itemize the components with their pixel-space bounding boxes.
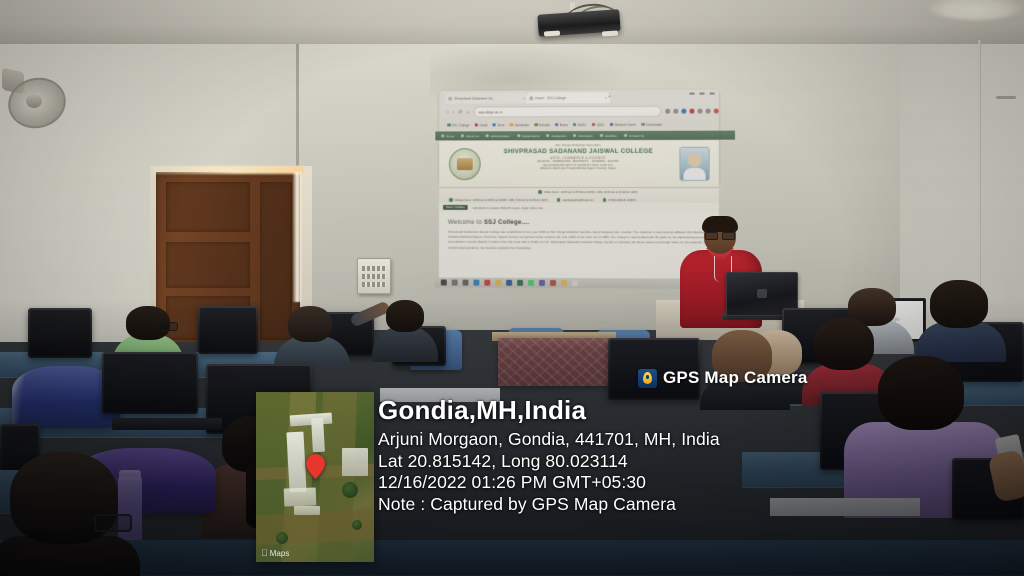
gps-note: Note : Captured by GPS Map Camera bbox=[378, 495, 878, 515]
monitor-screen bbox=[30, 310, 90, 356]
phone-label: 07196-220118, 220070 bbox=[608, 199, 636, 202]
tab-title: Shivprasad Sadanand Jai... bbox=[454, 96, 495, 100]
map-pin-icon bbox=[638, 369, 657, 388]
projector-foot bbox=[602, 30, 618, 36]
browser-toolbar: ‹ › ⟳ ⌂ ssjcollege.ac.in bbox=[443, 105, 723, 119]
bookmark-label: Exam bbox=[560, 123, 568, 127]
browser-tabstrip: Shivprasad Sadanand Jai... × Home - SSJ … bbox=[439, 89, 718, 103]
nav-label: Admission bbox=[579, 134, 593, 138]
app-name-label: GPS Map Camera bbox=[663, 368, 808, 388]
attendee bbox=[0, 452, 140, 576]
clock-icon bbox=[539, 190, 543, 194]
map-building bbox=[284, 487, 317, 506]
location-pin-icon bbox=[306, 454, 325, 479]
new-tab-button[interactable]: + bbox=[608, 94, 611, 100]
college-name: SHIVPRASAD SADANAND JAISWAL COLLEGE bbox=[483, 148, 675, 156]
address-bar-value: ssjcollege.ac.in bbox=[478, 110, 502, 114]
panel-row bbox=[362, 274, 386, 279]
attendee bbox=[916, 280, 1002, 356]
welcome-heading: Welcome to SSJ College.... bbox=[448, 219, 710, 226]
attendee-glasses bbox=[94, 514, 132, 532]
attendee-glasses bbox=[158, 322, 178, 331]
gps-info-block: Gondia,MH,India Arjuni Morgaon, Gondia, … bbox=[378, 396, 878, 516]
office-hours: Office hours : 10:00 am to 05:30 pm (MON… bbox=[539, 190, 638, 194]
news-text: Admission for session 2022-23 is open. A… bbox=[473, 205, 544, 209]
bookmark-item[interactable]: Admission bbox=[510, 123, 530, 127]
bookmark-item[interactable]: SSJ College bbox=[447, 123, 469, 127]
map-attribution-label: Maps bbox=[270, 549, 290, 558]
bookmark-label: Admission bbox=[515, 123, 530, 127]
attendee bbox=[372, 300, 436, 360]
nav-label: Home bbox=[446, 134, 454, 138]
news-tag: News / Updates bbox=[443, 205, 468, 210]
college-affiliation: Affiliated to Rashtrasant Tukadoji Mahar… bbox=[483, 167, 675, 170]
bookmark-label: Student Corner bbox=[615, 122, 637, 126]
task-view-icon[interactable] bbox=[463, 280, 468, 286]
bookmark-item[interactable]: IQAC bbox=[592, 122, 605, 126]
nav-item-academics[interactable]: Academics bbox=[546, 134, 566, 138]
gps-coordinates: Lat 20.815142, Long 80.023114 bbox=[378, 452, 878, 472]
menu-icon[interactable] bbox=[714, 109, 719, 114]
cast-icon[interactable] bbox=[706, 109, 711, 114]
star-icon[interactable] bbox=[665, 109, 670, 114]
door-light-leak bbox=[152, 166, 304, 174]
gps-location-title: Gondia,MH,India bbox=[378, 396, 878, 425]
chrome-icon[interactable] bbox=[484, 280, 489, 286]
bookmark-label: Downloads bbox=[646, 122, 662, 126]
pin-glyph bbox=[643, 372, 652, 384]
search-icon[interactable] bbox=[452, 280, 457, 286]
gps-address: Arjuni Morgaon, Gondia, 441701, MH, Indi… bbox=[378, 430, 878, 450]
ceiling bbox=[0, 0, 1024, 44]
monitor-screen bbox=[200, 308, 256, 352]
profile-icon[interactable] bbox=[681, 109, 686, 114]
bookmark-item[interactable]: Downloads bbox=[641, 122, 662, 126]
attendee-head bbox=[386, 300, 424, 332]
map-building bbox=[311, 418, 325, 453]
close-icon[interactable]: × bbox=[523, 95, 525, 100]
tab-favicon bbox=[448, 96, 452, 100]
extension-icons[interactable] bbox=[665, 109, 718, 114]
door-panel bbox=[166, 242, 250, 288]
nav-label: Contact Us bbox=[629, 133, 644, 137]
email-label: ssjcollege@rediffmail.com bbox=[562, 198, 593, 201]
bookmark-label: IQAC bbox=[597, 122, 605, 126]
nav-label: About Us bbox=[466, 134, 479, 138]
nav-item-home[interactable]: Home bbox=[441, 134, 454, 138]
header-text-block: Shri Durga Shikshan Sanstha's SHIVPRASAD… bbox=[483, 144, 675, 171]
map-attribution:  Maps bbox=[261, 549, 289, 558]
bookmark-label: Drive bbox=[497, 123, 504, 127]
electrical-panel-icon bbox=[357, 258, 391, 294]
phone-icon bbox=[603, 198, 607, 202]
whatsapp-icon[interactable] bbox=[528, 280, 533, 286]
attendee-head bbox=[878, 356, 964, 430]
attendee-head bbox=[930, 280, 988, 328]
bookmark-item[interactable]: Exam bbox=[555, 123, 568, 127]
notepad-icon[interactable] bbox=[572, 280, 578, 286]
nav-label: Facilities bbox=[605, 133, 617, 137]
presenter-glasses bbox=[705, 231, 735, 238]
bookmark-label: Results bbox=[539, 123, 550, 127]
site-header: Shri Durga Shikshan Sanstha's SHIVPRASAD… bbox=[439, 141, 719, 187]
nav-label: Departments bbox=[522, 134, 540, 138]
bookmark-label: NAAC bbox=[578, 123, 587, 127]
map-building bbox=[342, 448, 368, 476]
bookmark-item[interactable]: Gmail bbox=[474, 123, 487, 127]
college-crest-icon bbox=[449, 148, 481, 180]
map-building bbox=[286, 432, 306, 493]
bookmark-item[interactable]: NAAC bbox=[573, 123, 587, 127]
browser-tab[interactable]: Shivprasad Sadanand Jai... × bbox=[445, 92, 528, 103]
map-tree bbox=[342, 482, 358, 498]
site-navigation: Home About Us Administration Departments… bbox=[435, 131, 735, 141]
reload-icon[interactable]: ⟳ bbox=[458, 109, 462, 115]
panel-row bbox=[362, 266, 386, 271]
translate-icon[interactable] bbox=[697, 109, 702, 114]
lab-monitor bbox=[102, 352, 198, 414]
door-edge-light bbox=[293, 172, 302, 302]
explorer-icon[interactable] bbox=[495, 280, 500, 286]
email-contact[interactable]: ssjcollege@rediffmail.com bbox=[557, 198, 594, 202]
minimize-icon[interactable] bbox=[689, 93, 694, 95]
folder-icon[interactable] bbox=[561, 280, 566, 286]
map-thumbnail:  Maps bbox=[256, 392, 374, 562]
tab-title: Home - SSJ College bbox=[535, 96, 566, 100]
monitor-screen bbox=[104, 354, 196, 412]
founder-portrait-icon bbox=[679, 147, 709, 181]
lab-monitor bbox=[28, 308, 92, 358]
attendee-head bbox=[288, 306, 332, 342]
college-website: Shri Durga Shikshan Sanstha's SHIVPRASAD… bbox=[439, 141, 719, 289]
phone-contact[interactable]: 07196-220118, 220070 bbox=[603, 198, 636, 202]
excel-icon[interactable] bbox=[517, 280, 522, 286]
welcome-body: Shivprasad Sadanand Jaiswal College was … bbox=[448, 230, 710, 252]
forward-icon[interactable]: › bbox=[453, 109, 455, 115]
browser-tab[interactable]: Home - SSJ College × bbox=[526, 92, 610, 103]
laptop-logo bbox=[757, 289, 767, 298]
nav-item-facilities[interactable]: Facilities bbox=[600, 133, 617, 137]
wall-conduit bbox=[978, 40, 981, 290]
wall-fan-icon bbox=[2, 66, 66, 128]
extensions-icon[interactable] bbox=[673, 109, 678, 114]
start-icon[interactable] bbox=[441, 280, 446, 286]
door-panel bbox=[166, 182, 250, 232]
bookmark-item[interactable]: Student Corner bbox=[610, 122, 637, 126]
bookmarks-bar: SSJ College Gmail Drive Admission Result… bbox=[443, 120, 723, 130]
bookmark-label: Gmail bbox=[479, 123, 487, 127]
map-tree bbox=[352, 520, 362, 530]
gps-watermark: GPS Map Camera bbox=[638, 368, 808, 388]
maximize-icon[interactable] bbox=[699, 93, 704, 95]
close-icon[interactable] bbox=[710, 92, 715, 94]
presenter-hair bbox=[702, 216, 738, 232]
map-tree bbox=[276, 532, 288, 544]
close-icon[interactable]: × bbox=[605, 95, 607, 100]
bookmark-item[interactable]: Results bbox=[534, 123, 550, 127]
back-icon[interactable]: ‹ bbox=[447, 109, 449, 115]
gps-timestamp: 12/16/2022 01:26 PM GMT+05:30 bbox=[378, 473, 878, 493]
home-icon[interactable]: ⌂ bbox=[466, 109, 469, 115]
clock-icon bbox=[449, 198, 453, 202]
apple-logo-icon:  bbox=[261, 549, 268, 558]
map-building bbox=[294, 506, 320, 515]
news-ticker: News / Updates Admission for session 202… bbox=[439, 203, 719, 212]
front-table-cloth bbox=[498, 338, 610, 386]
panel-row bbox=[362, 282, 386, 287]
lab-monitor bbox=[198, 306, 258, 354]
teams-icon[interactable] bbox=[539, 280, 544, 286]
college-hours: College hours : 09:30 am to 05:30 pm (MO… bbox=[449, 198, 548, 202]
bookmark-label: SSJ College bbox=[452, 123, 469, 127]
lab-desk-row bbox=[0, 540, 1024, 576]
nav-item-admission[interactable]: Admission bbox=[574, 134, 593, 138]
edge-icon[interactable] bbox=[473, 280, 478, 286]
nav-item-about[interactable]: About Us bbox=[461, 134, 479, 138]
attendee bbox=[276, 306, 346, 362]
window-controls[interactable] bbox=[689, 92, 714, 94]
office-hours-label: Office hours : 10:00 am to 05:30 pm (MON… bbox=[544, 190, 638, 193]
ceiling-projector-icon bbox=[528, 2, 628, 40]
fan-hub bbox=[26, 94, 42, 108]
address-bar[interactable]: ssjcollege.ac.in bbox=[473, 106, 661, 118]
mail-icon bbox=[557, 198, 561, 202]
nav-label: Administration bbox=[491, 134, 510, 138]
office-hours-row: Office hours : 10:00 am to 05:30 pm (MON… bbox=[439, 188, 719, 196]
bookmark-item[interactable]: Drive bbox=[492, 123, 504, 127]
welcome-heading-strong: SSJ College.... bbox=[484, 219, 529, 226]
welcome-heading-prefix: Welcome to bbox=[448, 219, 484, 226]
tab-favicon bbox=[529, 96, 533, 100]
media-icon[interactable] bbox=[550, 280, 555, 286]
gps-map-camera-photo: Shivprasad Sadanand Jai... × Home - SSJ … bbox=[0, 0, 1024, 576]
adblock-icon[interactable] bbox=[689, 109, 694, 114]
nav-item-contact[interactable]: Contact Us bbox=[624, 133, 644, 137]
nav-item-administration[interactable]: Administration bbox=[486, 134, 510, 138]
college-hours-label: College hours : 09:30 am to 05:30 pm (MO… bbox=[454, 198, 547, 201]
nav-label: Academics bbox=[551, 134, 566, 138]
nav-item-departments[interactable]: Departments bbox=[517, 134, 540, 138]
projector-foot bbox=[544, 30, 560, 36]
wall-mark bbox=[996, 96, 1016, 99]
word-icon[interactable] bbox=[506, 280, 511, 286]
